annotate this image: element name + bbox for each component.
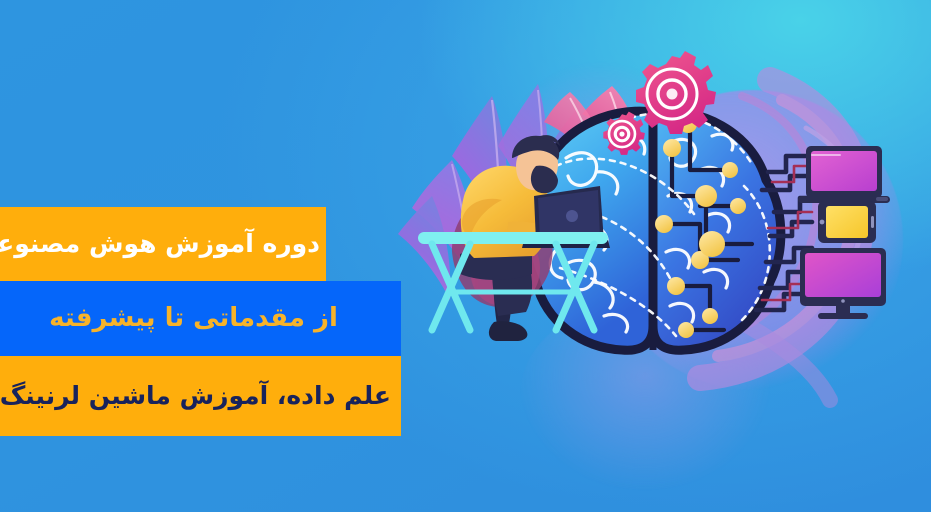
gear-large-icon [636, 51, 716, 134]
banner-course-title-text: دوره آموزش هوش مصنوعی [0, 230, 326, 258]
banner-course-level-text: از مقدماتی تا پیشرفته [0, 304, 401, 333]
banner-course-title[interactable]: دوره آموزش هوش مصنوعی [0, 207, 326, 281]
laptop-device-icon [798, 146, 890, 203]
banner-course-topics[interactable]: علم داده، آموزش ماشین لرنینگ [0, 356, 401, 436]
hero-banner-canvas: دوره آموزش هوش مصنوعی از مقدماتی تا پیشر… [0, 0, 931, 512]
tablet-device-icon [818, 201, 876, 243]
banner-course-topics-text: علم داده، آموزش ماشین لرنینگ [0, 382, 401, 410]
banner-course-level[interactable]: از مقدماتی تا پیشرفته [0, 281, 401, 356]
